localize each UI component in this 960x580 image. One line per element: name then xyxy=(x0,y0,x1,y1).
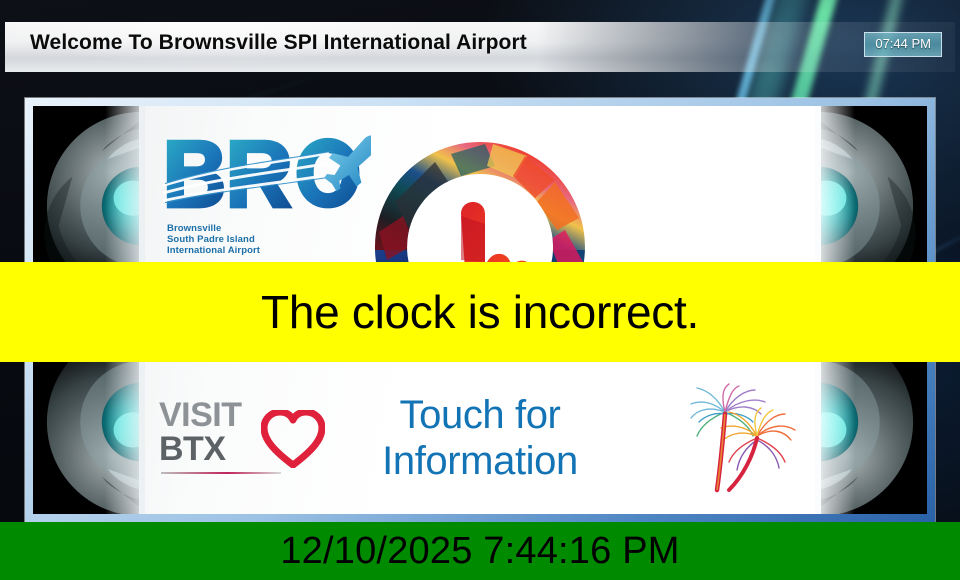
visit-btx-underline xyxy=(161,472,281,474)
heart-icon xyxy=(261,410,325,468)
visit-btx-wordmark: VISIT BTX xyxy=(159,398,242,466)
kiosk-screen: Welcome To Brownsville SPI International… xyxy=(0,0,960,580)
alert-banner[interactable]: The clock is incorrect. xyxy=(0,262,960,362)
airport-logo-subtitle: Brownsville South Padre Island Internati… xyxy=(167,223,381,256)
logo-subtitle-line-2: South Padre Island xyxy=(167,234,381,245)
visit-btx-word-1: VISIT xyxy=(159,396,242,434)
palm-trees-icon xyxy=(673,382,803,494)
visit-btx-word-2: BTX xyxy=(159,430,226,468)
touch-for-information-label[interactable]: Touch for Information xyxy=(270,392,690,484)
logo-subtitle-line-3: International Airport xyxy=(167,245,381,256)
clock-badge[interactable]: 07:44 PM xyxy=(864,32,942,57)
touch-prompt-line-2: Information xyxy=(270,438,690,484)
status-datetime: 12/10/2025 7:44:16 PM xyxy=(280,530,679,573)
page-title: Welcome To Brownsville SPI International… xyxy=(30,31,527,55)
airport-logo: Brownsville South Padre Island Internati… xyxy=(161,134,381,256)
bro-wordmark-icon xyxy=(161,134,371,216)
visit-btx-logo[interactable]: VISIT BTX xyxy=(153,392,333,482)
alert-message: The clock is incorrect. xyxy=(261,285,699,339)
logo-subtitle-line-1: Brownsville xyxy=(167,223,381,234)
touch-prompt-line-1: Touch for xyxy=(270,392,690,438)
status-bar: 12/10/2025 7:44:16 PM xyxy=(0,522,960,580)
